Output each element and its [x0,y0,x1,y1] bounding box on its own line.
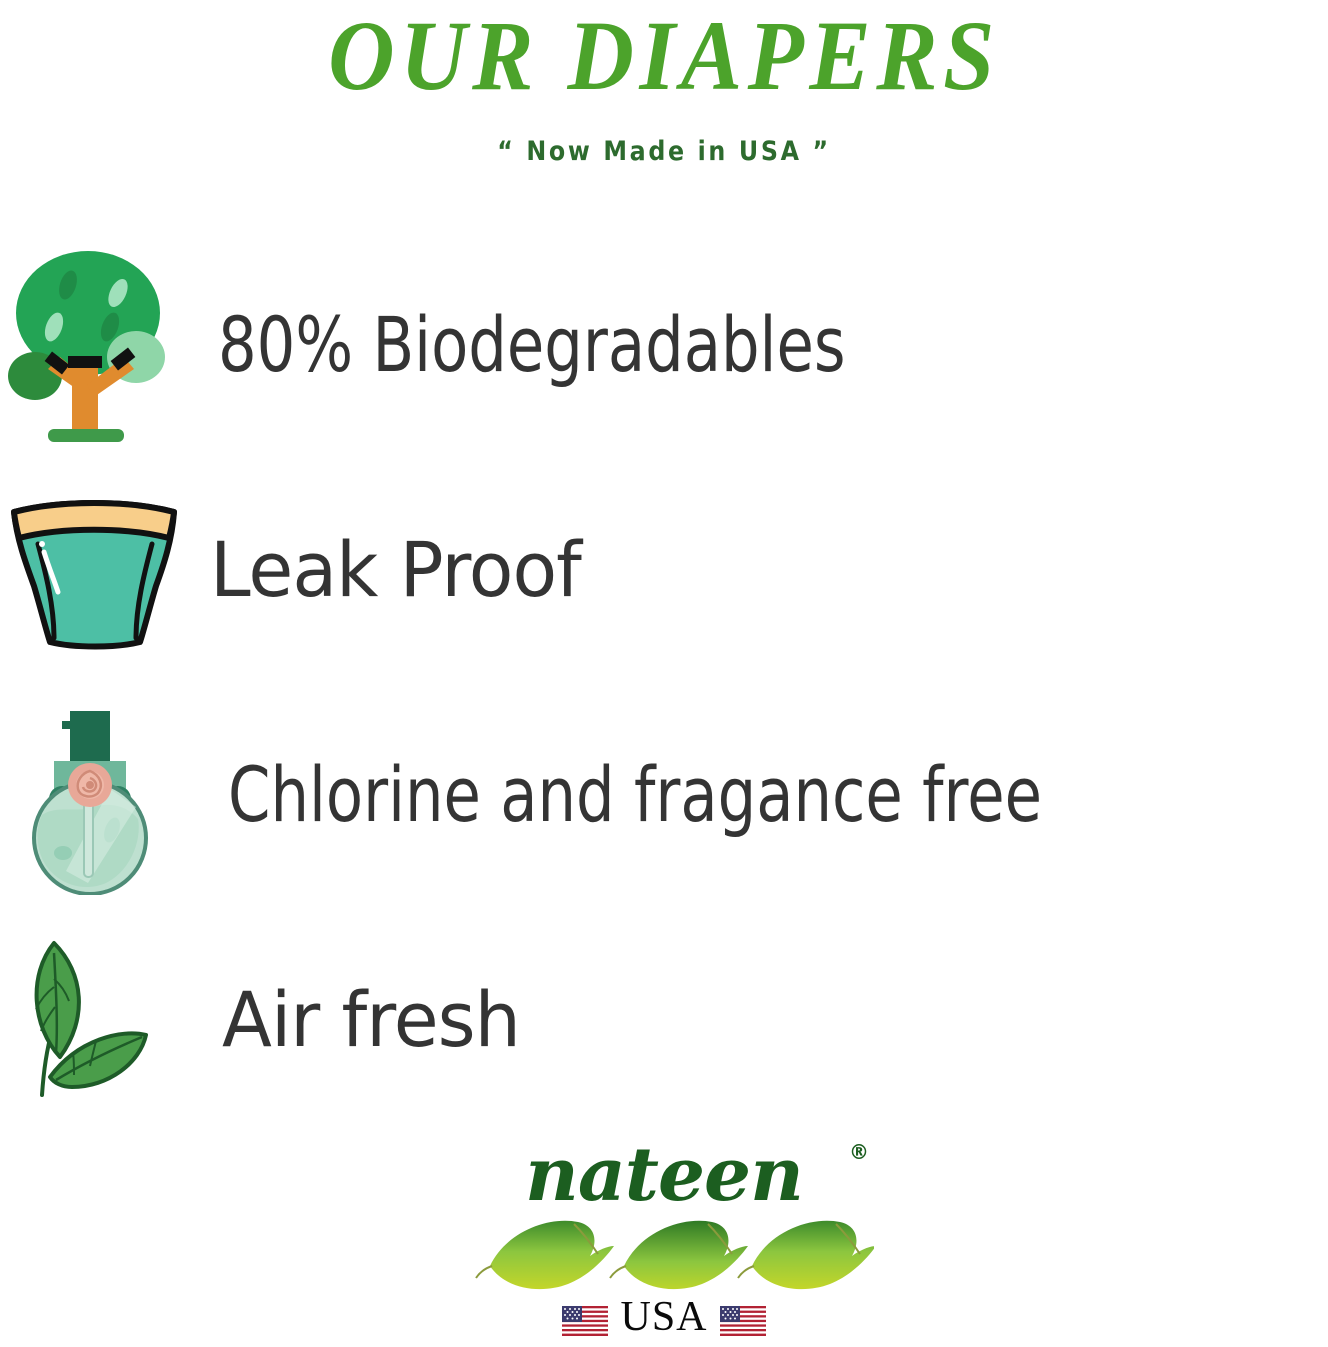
registered-trademark-icon: ® [849,1142,868,1162]
usa-label: USA [620,1293,707,1341]
feature-label: Leak Proof [210,532,581,608]
brand-logo: nateen® [0,1138,1328,1343]
perfume-bottle-icon [0,690,228,900]
tree-icon [0,240,218,450]
feature-label: 80% Biodegradables [218,307,846,383]
feature-item-leak-proof: Leak Proof [0,457,1328,682]
feature-item-chlorine-fragrance-free: Chlorine and fragance free [0,682,1328,907]
page-title: OUR DIAPERS [53,0,1275,106]
diaper-icon [0,465,210,675]
product-feature-graphic: OUR DIAPERS “ Now Made in USA ” [0,0,1328,1345]
header: OUR DIAPERS “ Now Made in USA ” [0,0,1328,167]
three-leaves-icon [462,1210,874,1298]
leaf-icon [0,915,222,1125]
made-in-usa-badge: USA [454,1290,874,1341]
feature-item-air-fresh: Air fresh [0,907,1328,1132]
brand-name: nateen [525,1132,803,1218]
feature-label: Chlorine and fragance free [228,757,1042,833]
feature-label: Air fresh [222,982,520,1058]
us-flag-icon [720,1299,766,1329]
brand-wordmark: nateen® [454,1138,874,1212]
page-subtitle: “ Now Made in USA ” [80,106,1249,167]
us-flag-icon [562,1299,608,1329]
feature-list: 80% Biodegradables [0,232,1328,1132]
feature-item-biodegradables: 80% Biodegradables [0,232,1328,457]
